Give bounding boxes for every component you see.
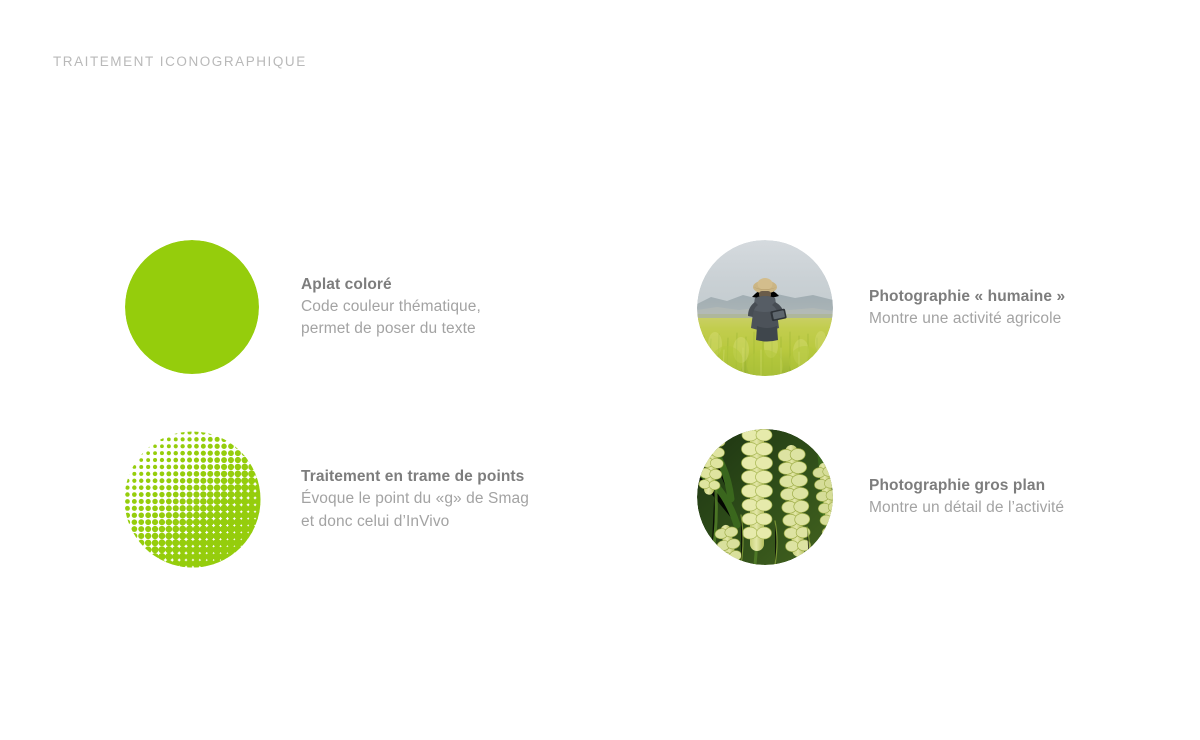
feature-text-block: Photographie « humaine » Montre une acti…: [869, 286, 1065, 331]
farmer-in-field-photo: [697, 240, 833, 376]
feature-desc-line-2: permet de poser du texte: [301, 318, 481, 341]
farmer-scene-illustration: [697, 240, 833, 376]
wheat-closeup-photo: [697, 429, 833, 565]
feature-title: Photographie gros plan: [869, 475, 1064, 497]
feature-text-block: Aplat coloré Code couleur thématique, pe…: [301, 274, 481, 341]
photo-circle-farmer: [697, 240, 833, 376]
feature-desc-line-1: Montre un détail de l’activité: [869, 497, 1064, 520]
feature-item-trame-de-points: Traitement en trame de points Évoque le …: [124, 429, 529, 570]
halftone-dot-circle-swatch: [124, 429, 261, 570]
feature-desc-line-1: Code couleur thématique,: [301, 296, 481, 319]
feature-item-aplat-colore: Aplat coloré Code couleur thématique, pe…: [125, 240, 481, 374]
photo-circle-wheat-closeup: [697, 429, 833, 565]
feature-title: Aplat coloré: [301, 274, 481, 296]
wheat-ears-illustration: [697, 429, 833, 565]
feature-desc-line-2: et donc celui d’InVivo: [301, 511, 529, 534]
feature-text-block: Photographie gros plan Montre un détail …: [869, 475, 1064, 520]
feature-text-block: Traitement en trame de points Évoque le …: [301, 466, 529, 533]
feature-item-photographie-gros-plan: Photographie gros plan Montre un détail …: [697, 429, 1064, 565]
icon-treatment-grid: Aplat coloré Code couleur thématique, pe…: [0, 0, 1200, 740]
feature-item-photographie-humaine: Photographie « humaine » Montre une acti…: [697, 240, 1065, 376]
green-disc-icon: [125, 240, 259, 374]
flat-color-circle-swatch: [125, 240, 259, 374]
feature-title: Traitement en trame de points: [301, 466, 529, 488]
halftone-gradient-icon: [124, 429, 261, 570]
feature-desc-line-1: Montre une activité agricole: [869, 308, 1065, 331]
feature-desc-line-1: Évoque le point du «g» de Smag: [301, 488, 529, 511]
feature-title: Photographie « humaine »: [869, 286, 1065, 308]
